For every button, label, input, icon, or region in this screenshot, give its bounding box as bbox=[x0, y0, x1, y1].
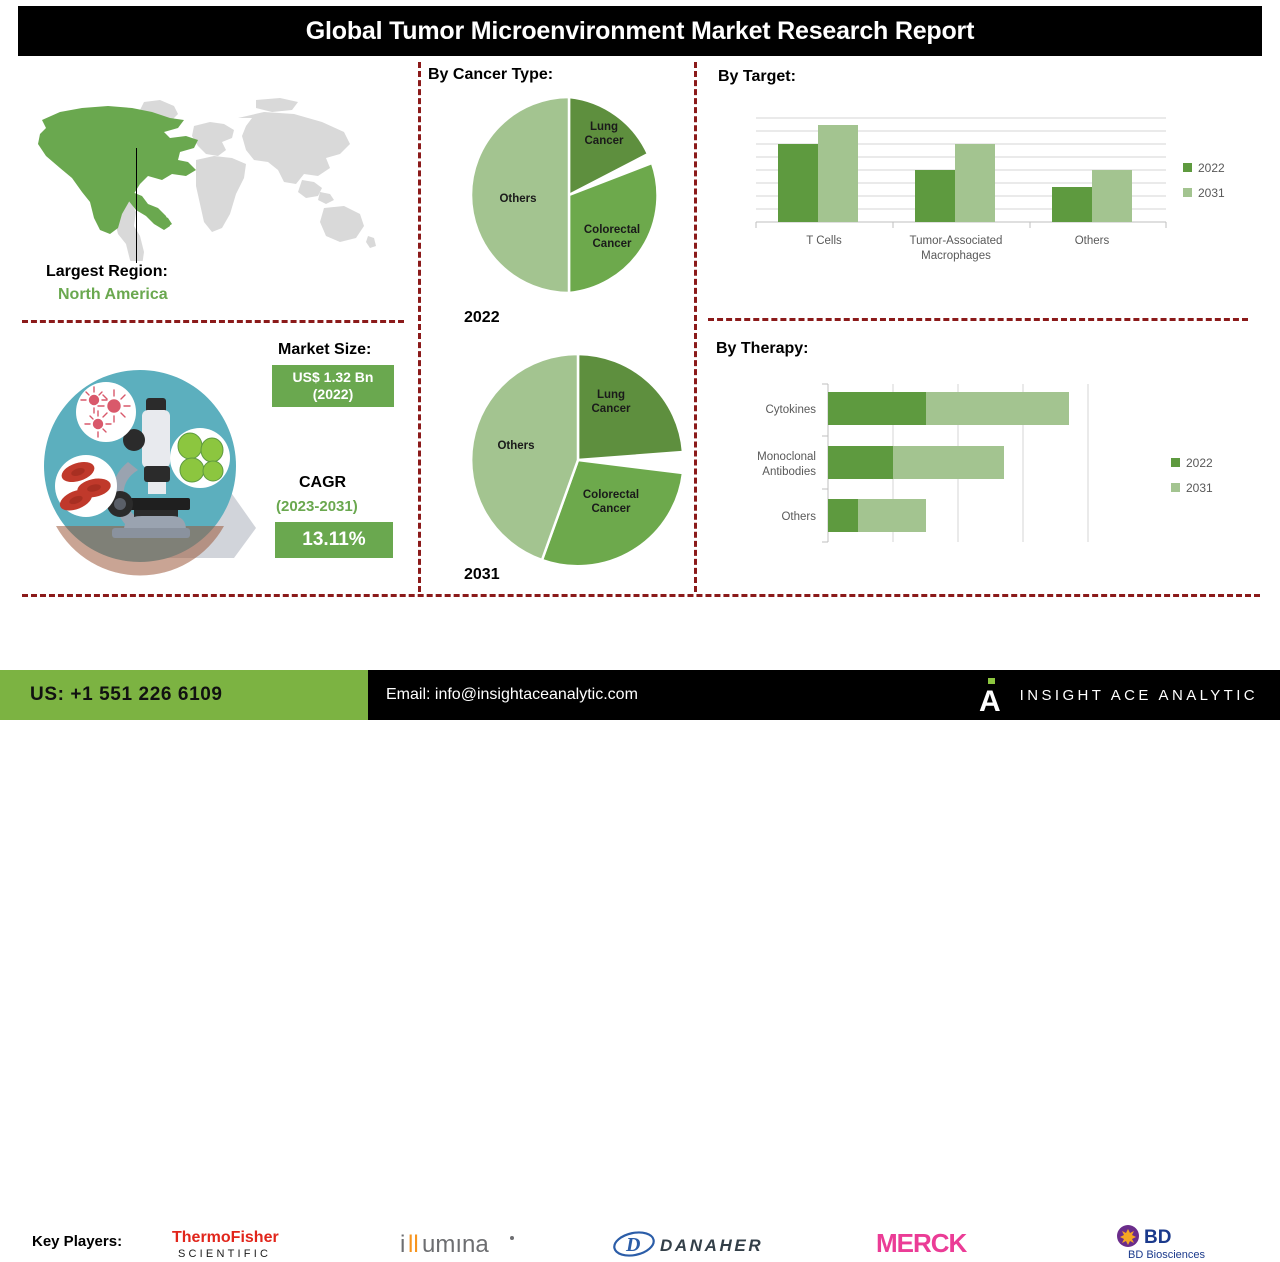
microscope-illustration bbox=[28, 358, 268, 583]
pie-2031-label-lung: LungCancer bbox=[583, 388, 639, 417]
cagr-value: 13.11% bbox=[302, 529, 365, 551]
brand-logo: A INSIGHT ACE ANALYTIC bbox=[976, 678, 1258, 712]
svg-text:2031: 2031 bbox=[1198, 186, 1225, 200]
pie-2022-label-lung: LungCancer bbox=[576, 120, 632, 149]
phone-number: US: +1 551 226 6109 bbox=[30, 684, 223, 706]
svg-text:Antibodies: Antibodies bbox=[762, 466, 816, 478]
bar-chart-by-target: T Cells Tumor-Associated Macrophages Oth… bbox=[736, 110, 1256, 270]
cagr-value-box: 13.11% bbox=[275, 522, 393, 558]
pie-2022-label-colorectal: ColorectalCancer bbox=[575, 223, 649, 252]
insight-ace-a-icon: A bbox=[976, 678, 1006, 712]
svg-text:Cytokines: Cytokines bbox=[766, 404, 817, 416]
market-size-value-box: US$ 1.32 Bn (2022) bbox=[272, 365, 394, 407]
pie-2022-year: 2022 bbox=[464, 309, 500, 327]
svg-text:D: D bbox=[625, 1234, 640, 1256]
svg-text:DANAHER: DANAHER bbox=[660, 1236, 763, 1255]
section-title-cancer-type: By Cancer Type: bbox=[428, 66, 553, 84]
logo-merck: MERCK bbox=[876, 1228, 1008, 1258]
svg-text:Others: Others bbox=[1075, 235, 1110, 247]
email-address: Email: info@insightaceanalytic.com bbox=[386, 686, 638, 704]
svg-text:SCIENTIFIC: SCIENTIFIC bbox=[178, 1248, 271, 1260]
divider-vertical-right bbox=[694, 62, 697, 592]
svg-text:ll: ll bbox=[408, 1231, 419, 1258]
divider-horizontal-bottom bbox=[22, 594, 1260, 597]
svg-text:T Cells: T Cells bbox=[806, 235, 842, 247]
largest-region-value: North America bbox=[58, 286, 168, 304]
svg-text:2022: 2022 bbox=[1198, 161, 1225, 175]
cagr-years: (2023-2031) bbox=[276, 498, 358, 515]
map-pointer-line bbox=[136, 148, 137, 263]
largest-region-label: Largest Region: bbox=[46, 263, 168, 281]
bar-chart-by-therapy: Cytokines Monoclonal Antibodies Others 2… bbox=[716, 380, 1261, 565]
svg-text:2022: 2022 bbox=[1186, 456, 1213, 470]
svg-text:Monoclonal: Monoclonal bbox=[757, 451, 816, 463]
world-map bbox=[24, 96, 396, 261]
footer-contact-bar: US: +1 551 226 6109 Email: info@insighta… bbox=[0, 670, 1280, 720]
svg-text:Tumor-Associated: Tumor-Associated bbox=[910, 235, 1003, 247]
logo-illumina: i ll umına bbox=[400, 1230, 524, 1258]
divider-horizontal-right bbox=[708, 318, 1248, 321]
pie-2022-label-others: Others bbox=[492, 192, 544, 206]
cagr-label: CAGR bbox=[299, 474, 346, 492]
section-title-therapy: By Therapy: bbox=[716, 340, 808, 358]
logo-bd-biosciences: BD BD Biosciences bbox=[1112, 1224, 1224, 1262]
svg-text:BD: BD bbox=[1144, 1227, 1171, 1248]
north-america-highlight bbox=[38, 106, 198, 234]
infographic-page: Global Tumor Microenvironment Market Res… bbox=[0, 0, 1280, 720]
market-size-value: US$ 1.32 Bn bbox=[293, 369, 374, 387]
svg-text:Macrophages: Macrophages bbox=[921, 250, 991, 262]
logo-thermo-fisher: ThermoFisher SCIENTIFIC bbox=[172, 1226, 312, 1260]
pie-2031-label-others: Others bbox=[490, 439, 542, 453]
header-banner: Global Tumor Microenvironment Market Res… bbox=[18, 6, 1262, 56]
brand-name: INSIGHT ACE ANALYTIC bbox=[1020, 687, 1258, 704]
market-size-year: (2022) bbox=[313, 386, 353, 404]
svg-text:i: i bbox=[400, 1231, 405, 1258]
pie-2031-label-colorectal: ColorectalCancer bbox=[574, 488, 648, 517]
pie-chart-cancer-type-2031 bbox=[466, 348, 690, 572]
pie-2031-year: 2031 bbox=[464, 566, 500, 584]
divider-vertical-left bbox=[418, 62, 421, 592]
divider-horizontal-left bbox=[22, 320, 404, 323]
phone-box[interactable]: US: +1 551 226 6109 bbox=[0, 670, 368, 720]
key-players-label: Key Players: bbox=[32, 1233, 122, 1250]
section-title-target: By Target: bbox=[718, 68, 796, 86]
logo-danaher: D DANAHER bbox=[612, 1230, 788, 1258]
market-size-label: Market Size: bbox=[278, 341, 371, 359]
svg-text:ThermoFisher: ThermoFisher bbox=[172, 1229, 279, 1246]
svg-text:umına: umına bbox=[422, 1231, 489, 1258]
svg-text:Others: Others bbox=[781, 511, 816, 523]
svg-text:2031: 2031 bbox=[1186, 481, 1213, 495]
svg-text:BD Biosciences: BD Biosciences bbox=[1128, 1249, 1206, 1261]
svg-text:A: A bbox=[979, 685, 1001, 712]
email-box[interactable]: Email: info@insightaceanalytic.com A INS… bbox=[368, 670, 1280, 720]
svg-text:MERCK: MERCK bbox=[876, 1228, 968, 1258]
page-title: Global Tumor Microenvironment Market Res… bbox=[306, 17, 974, 46]
key-players-row: Key Players: ThermoFisher SCIENTIFIC i l… bbox=[0, 598, 1280, 670]
